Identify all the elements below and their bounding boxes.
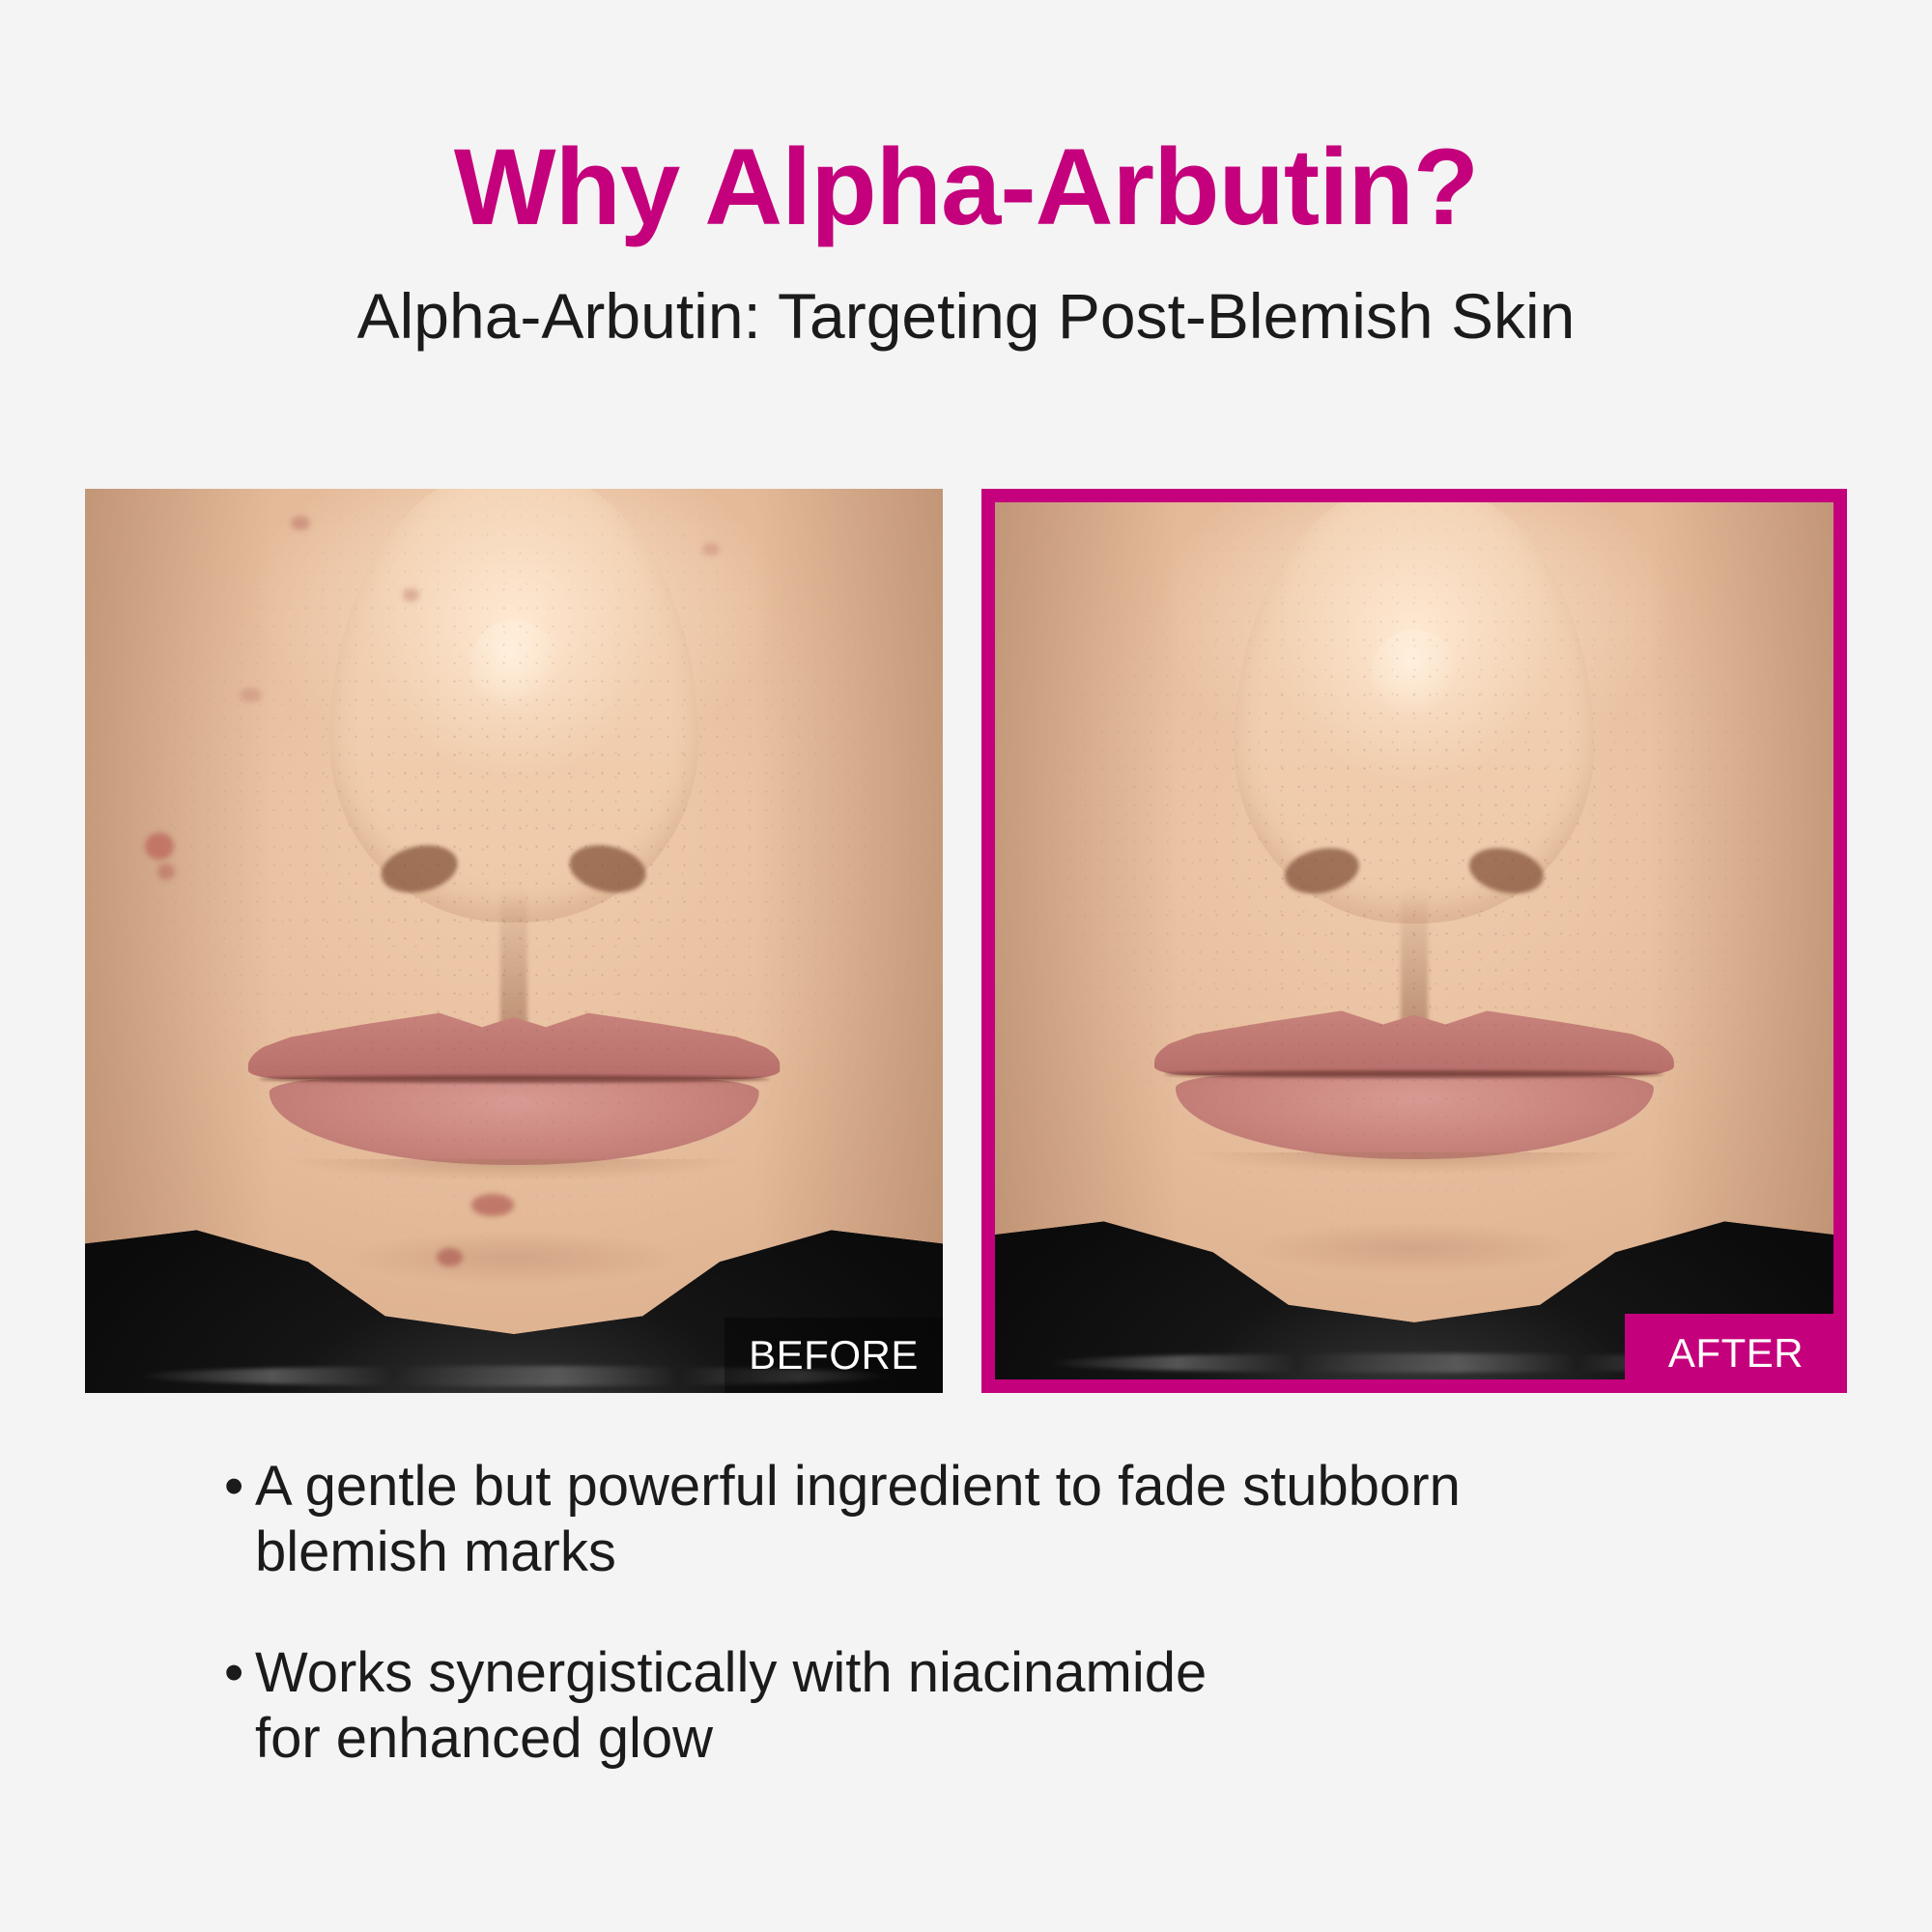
blemish-mark <box>471 1194 514 1215</box>
bullet-marker-icon: • <box>224 1454 249 1520</box>
page-title: Why Alpha-Arbutin? <box>0 133 1932 241</box>
before-photo <box>85 489 943 1393</box>
before-after-comparison: BEFORE <box>85 489 1847 1393</box>
promo-card: Why Alpha-Arbutin? Alpha-Arbutin: Target… <box>0 0 1932 1932</box>
after-photo-pane: AFTER <box>981 489 1847 1393</box>
after-label: AFTER <box>1625 1314 1847 1393</box>
before-photo-pane: BEFORE <box>85 489 943 1393</box>
blemish-mark <box>403 588 420 602</box>
before-label: BEFORE <box>724 1318 943 1393</box>
blemish-mark <box>240 688 262 702</box>
list-item: • A gentle but powerful ingredient to fa… <box>224 1454 1789 1586</box>
page-subtitle: Alpha-Arbutin: Targeting Post-Blemish Sk… <box>0 284 1932 348</box>
blemish-mark <box>437 1248 463 1266</box>
blemish-mark <box>291 516 310 530</box>
list-item-text: Works synergistically with niacinamide f… <box>249 1640 1207 1773</box>
list-item-text: A gentle but powerful ingredient to fade… <box>249 1454 1461 1586</box>
list-item: • Works synergistically with niacinamide… <box>224 1640 1789 1773</box>
bullet-marker-icon: • <box>224 1640 249 1706</box>
header: Why Alpha-Arbutin? Alpha-Arbutin: Target… <box>0 0 1932 348</box>
after-photo <box>995 502 1833 1379</box>
benefits-list: • A gentle but powerful ingredient to fa… <box>224 1454 1789 1827</box>
blemish-mark <box>145 833 174 860</box>
